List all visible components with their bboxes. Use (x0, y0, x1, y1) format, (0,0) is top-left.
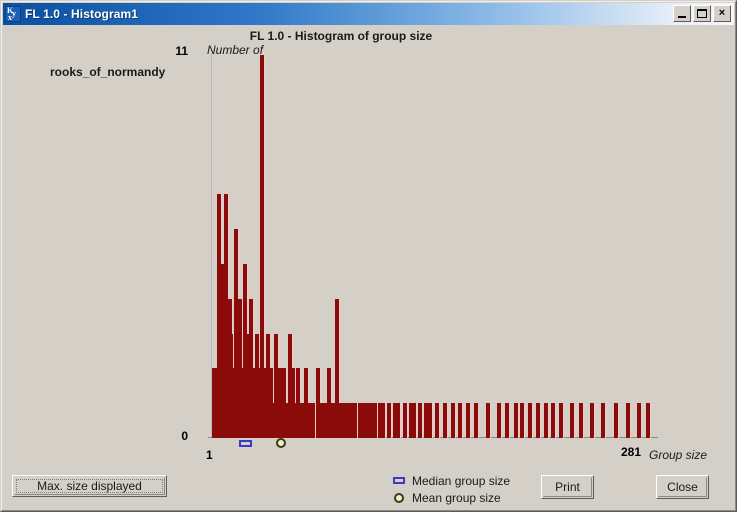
histogram-bar (428, 403, 433, 438)
y-axis-min-tick: 0 (181, 429, 188, 443)
app-icon: Kyx (5, 6, 21, 22)
histogram-bar (435, 403, 440, 438)
close-dialog-button[interactable]: Close (656, 475, 709, 499)
legend-item-median: Median group size (393, 472, 510, 489)
close-button[interactable]: × (713, 5, 731, 22)
histogram-bar (451, 403, 456, 438)
close-icon: × (714, 6, 730, 21)
histogram-bar (387, 403, 392, 438)
histogram-bar (570, 403, 575, 438)
print-button[interactable]: Print (541, 475, 594, 499)
chart-title: FL 1.0 - Histogram of group size (3, 29, 734, 43)
histogram-bar (418, 403, 423, 438)
histogram-bar (474, 403, 479, 438)
histogram-bar (579, 403, 584, 438)
histogram-bar (536, 403, 541, 438)
histogram-bar (551, 403, 556, 438)
legend-label-median: Median group size (412, 474, 510, 488)
minimize-button[interactable] (673, 5, 691, 22)
histogram-bar (466, 403, 471, 438)
histogram-bar (544, 403, 549, 438)
window-controls: × (673, 5, 731, 22)
histogram-bar (412, 403, 417, 438)
x-axis-label: Group size (649, 448, 707, 462)
histogram-bar (614, 403, 619, 438)
chart-legend: Median group size Mean group size (393, 472, 510, 506)
histogram-bar (528, 403, 533, 438)
histogram-bar (637, 403, 642, 438)
histogram-bar (381, 403, 386, 438)
histogram-bar (458, 403, 463, 438)
close-label: Close (667, 480, 698, 494)
app-window: Kyx FL 1.0 - Histogram1 × FL 1.0 - Histo… (0, 0, 737, 512)
histogram-bar (559, 403, 564, 438)
median-swatch-icon (393, 477, 405, 484)
histogram-bar (396, 403, 401, 438)
minimize-icon (678, 16, 686, 18)
dataset-name-label: rooks_of_normandy (50, 65, 165, 79)
histogram-bar (520, 403, 525, 438)
window-titlebar[interactable]: Kyx FL 1.0 - Histogram1 × (3, 3, 734, 25)
x-axis-max-tick: 281 (621, 445, 641, 459)
histogram-bar (505, 403, 510, 438)
histogram-bar (601, 403, 606, 438)
histogram-bar (514, 403, 519, 438)
histogram-bar (443, 403, 448, 438)
maximize-icon (697, 9, 707, 18)
mean-marker (276, 438, 286, 448)
maximize-button[interactable] (693, 5, 711, 22)
histogram-bar (486, 403, 491, 438)
print-label: Print (555, 480, 580, 494)
histogram-bar (646, 403, 651, 438)
y-axis-max-tick: 11 (175, 44, 188, 58)
legend-label-mean: Mean group size (412, 491, 501, 505)
histogram-bar (626, 403, 631, 438)
max-size-displayed-label: Max. size displayed (37, 479, 142, 493)
legend-item-mean: Mean group size (393, 489, 510, 506)
window-title: FL 1.0 - Histogram1 (25, 7, 138, 21)
histogram-bar (497, 403, 502, 438)
histogram-plot-area[interactable] (212, 55, 652, 438)
median-marker (239, 440, 252, 447)
histogram-bar (590, 403, 595, 438)
x-axis-min-tick: 1 (206, 448, 213, 462)
window-client-area: FL 1.0 - Histogram of group size rooks_o… (3, 25, 734, 509)
histogram-bar (403, 403, 408, 438)
max-size-displayed-button[interactable]: Max. size displayed (12, 475, 167, 497)
mean-swatch-icon (394, 493, 404, 503)
